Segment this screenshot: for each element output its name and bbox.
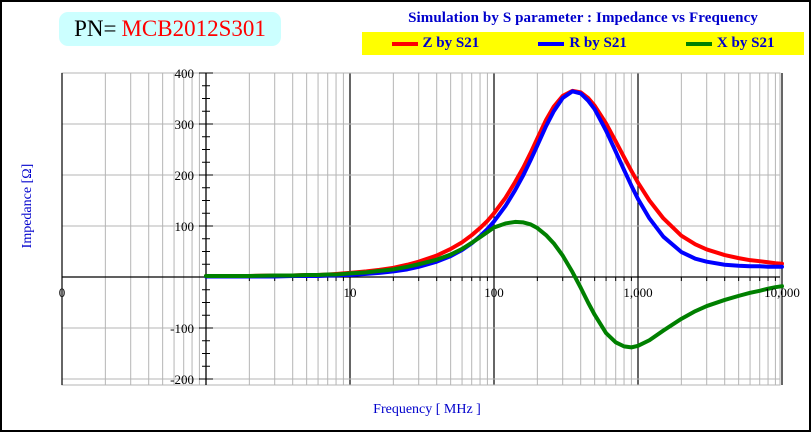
major-gridlines	[350, 73, 782, 385]
x-tick-label: 100	[484, 285, 504, 300]
x-tick-label: 1,000	[623, 285, 652, 300]
plot-area: 400300200100-100-2000101001,00010,000	[2, 2, 811, 432]
y-tick-label: -200	[170, 372, 194, 387]
x-tick-label: 10	[344, 285, 357, 300]
y-tick-label: -100	[170, 321, 194, 336]
x-tick-label: 10,000	[764, 285, 800, 300]
y-tick-label: 200	[175, 168, 195, 183]
y-tick-label: 400	[175, 66, 195, 81]
y-tick-label: 100	[175, 219, 195, 234]
x-tick-label: 0	[59, 285, 66, 300]
chart-page: PN= MCB2012S301 Simulation by S paramete…	[0, 0, 811, 432]
y-tick-label: 300	[175, 117, 195, 132]
